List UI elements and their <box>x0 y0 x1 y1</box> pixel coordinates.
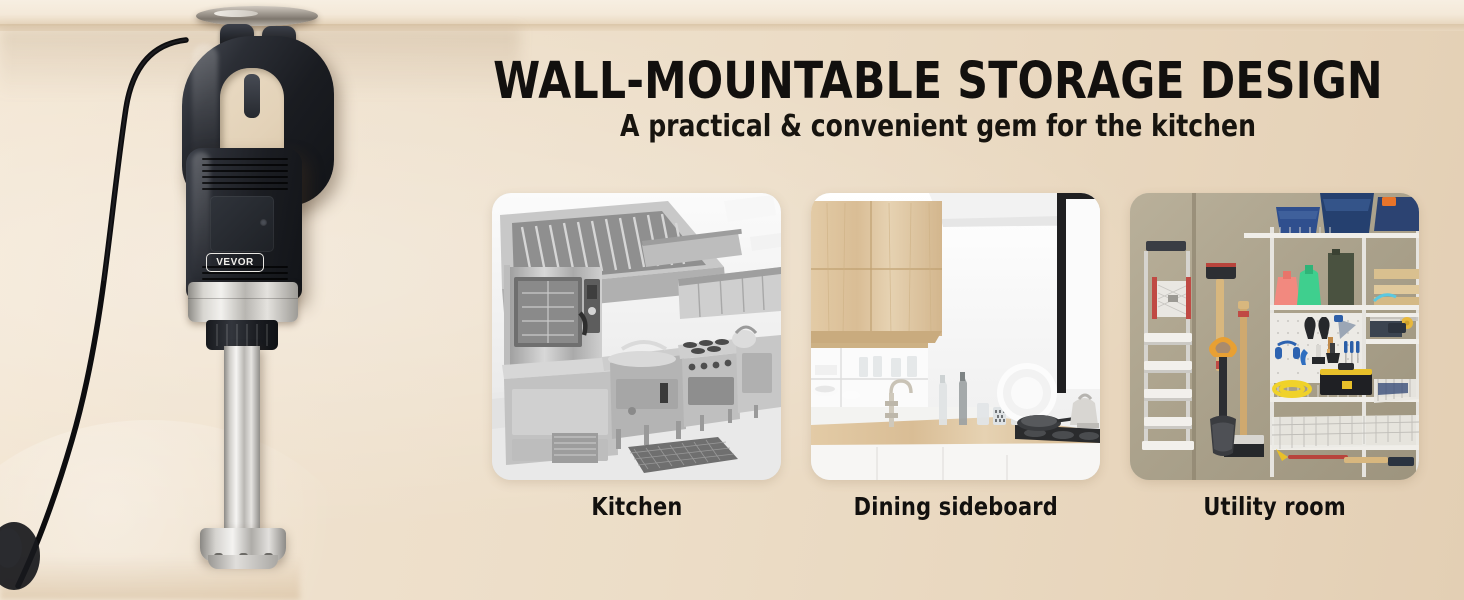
handle-highlight <box>192 44 218 164</box>
banner-root: VEVOR WALL-MOUNTABLE STORAGE DESIGN A pr… <box>0 0 1464 600</box>
thumbnail-utility-room <box>1130 193 1419 480</box>
vent-grille-top <box>202 158 288 192</box>
caption-dining-sideboard: Dining sideboard <box>853 492 1057 521</box>
collar-seam <box>188 298 298 299</box>
blade-slot <box>264 553 273 568</box>
blade-slot <box>214 553 223 568</box>
blade-slot <box>239 553 248 568</box>
page-title: WALL-MOUNTABLE STORAGE DESIGN <box>486 56 1390 108</box>
caption-kitchen: Kitchen <box>591 492 682 521</box>
thumbnail-dining-sideboard <box>811 193 1100 480</box>
thumbnail-kitchen <box>492 193 781 480</box>
gallery-card-dining-sideboard: Dining sideboard <box>811 193 1100 523</box>
panel-screw-dot <box>260 219 267 226</box>
wall-mount-bracket <box>196 6 318 26</box>
wall-mount-highlight <box>214 10 258 17</box>
scene-gallery: Kitchen <box>492 193 1418 523</box>
blade-guard <box>200 528 286 562</box>
caption-utility-room: Utility room <box>1203 492 1345 521</box>
brand-label: VEVOR <box>216 257 254 268</box>
trigger-switch <box>244 74 260 118</box>
gallery-card-kitchen: Kitchen <box>492 193 781 523</box>
gallery-card-utility-room: Utility room <box>1130 193 1419 523</box>
page-subtitle: A practical & convenient gem for the kit… <box>486 110 1390 143</box>
vevor-logo-badge: VEVOR <box>206 253 264 272</box>
immersion-blender: VEVOR <box>148 0 348 600</box>
blender-shaft <box>224 346 260 536</box>
stainless-collar <box>188 282 298 322</box>
